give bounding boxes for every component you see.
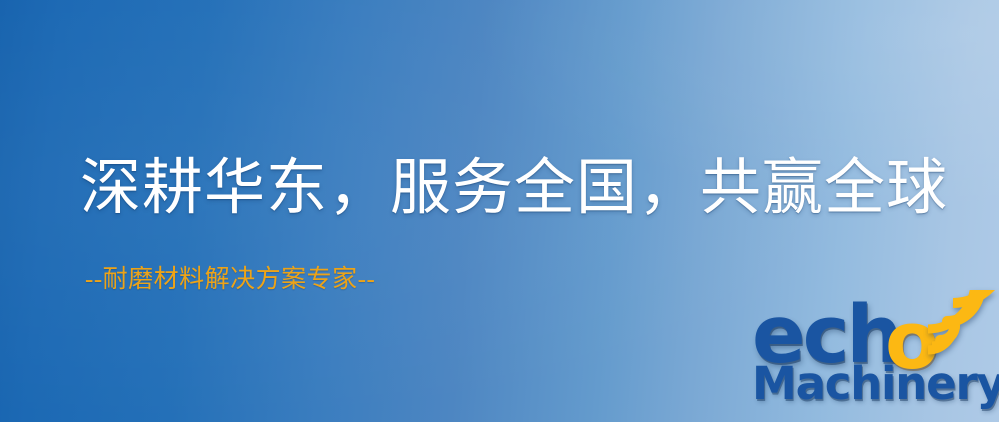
- logo-subword-text: Machinery: [752, 357, 999, 410]
- signal-waves-icon: [922, 290, 999, 364]
- hero-banner: 深耕华东，服务全国，共赢全球 --耐磨材料解决方案专家-- ech o: [0, 0, 999, 422]
- logo-subword-machinery: Machinery®: [752, 358, 999, 413]
- banner-subtitle: --耐磨材料解决方案专家--: [85, 264, 375, 296]
- banner-headline: 深耕华东，服务全国，共赢全球: [80, 152, 948, 226]
- company-logo[interactable]: ech o: [752, 296, 999, 422]
